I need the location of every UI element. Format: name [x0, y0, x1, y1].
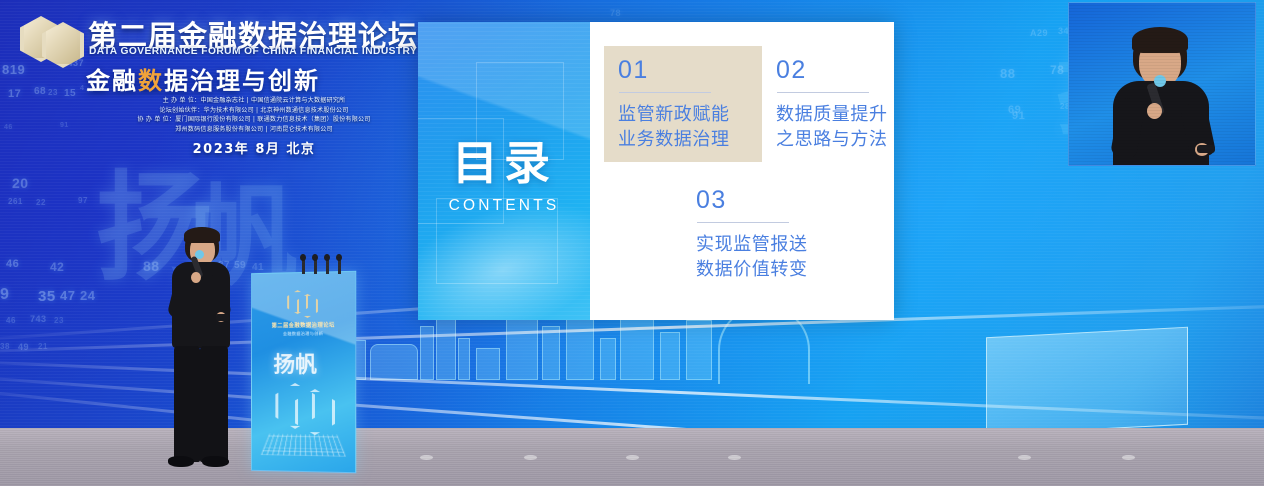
organizer-line-4: 郑州数码信息服务股份有限公司 | 河南昆仑技术有限公司 [104, 125, 404, 135]
toc-item-03-number: 03 [696, 188, 808, 213]
slide-heading-cn: 目录 [452, 127, 556, 193]
slide-toc-panel: 01 监管新政赋能 业务数据治理 02 数据质量提升 之思路与方法 03 实现监… [590, 22, 894, 320]
stage-podium: 第二届金融数据治理论坛 金融数据治理与创新 扬帆 [251, 271, 356, 474]
podium-subtitle: 金融数据治理与创新 [252, 330, 355, 337]
background-number: 42 [50, 260, 64, 274]
slide-heading-en: CONTENTS [449, 197, 560, 215]
toc-item-01[interactable]: 01 监管新政赋能 业务数据治理 [618, 58, 730, 152]
forum-hexagon-logo-icon [18, 10, 82, 68]
organizer-line-2: 论坛创始伙伴：华为技术有限公司 | 北京神州数通信息技术股份公司 [104, 106, 404, 116]
background-number: 97 [78, 196, 88, 205]
toc-item-03-line2: 数据价值转变 [696, 257, 808, 282]
toc-item-02-rule [777, 92, 869, 93]
table-mic-head-3 [324, 254, 330, 261]
organizer-line-3: 协 办 单 位：厦门国际银行股份有限公司 | 联通数力信息技术（集团）股份有限公… [104, 115, 404, 125]
stage-speaker-figure [150, 228, 260, 476]
toc-item-01-line1: 监管新政赋能 [618, 102, 730, 127]
toc-item-03-line1: 实现监管报送 [696, 232, 808, 257]
table-mic-head-4 [336, 254, 342, 261]
subtitle-highlight: 数 [138, 67, 164, 95]
wall-glass-panel [986, 327, 1188, 436]
toc-item-01-number: 01 [618, 58, 730, 83]
podium-logo-icon [287, 287, 315, 317]
presentation-slide: 目录 CONTENTS 01 监管新政赋能 业务数据治理 02 数据质量提升 之… [418, 22, 894, 320]
background-number: 78 [1050, 63, 1064, 77]
organizer-list: 主 办 单 位：中国金融杂志社 | 中国信通院云计算与大数据研究所论坛创始伙伴：… [104, 96, 404, 134]
toc-item-02-line2: 之思路与方法 [776, 127, 888, 152]
background-number: 20 [12, 175, 29, 191]
toc-item-02[interactable]: 02 数据质量提升 之思路与方法 [776, 58, 888, 152]
subtitle-pre: 金融 [86, 67, 138, 95]
event-date-location: 2023年 8月 北京 [104, 138, 404, 157]
forum-title-en: DATA GOVERNANCE FORUM OF CHINA FINANCIAL… [89, 46, 417, 57]
speaker-closeup-video-panel [1068, 2, 1256, 166]
toc-item-01-rule [619, 92, 711, 93]
background-number: 88 [1000, 66, 1015, 81]
toc-item-01-line2: 业务数据治理 [618, 127, 730, 152]
table-mic-head-2 [312, 254, 318, 261]
toc-item-02-number: 02 [776, 58, 888, 83]
podium-brush-text: 扬帆 [273, 347, 317, 379]
background-number: 46 [6, 258, 19, 270]
podium-title: 第二届金融数据治理论坛 [252, 320, 355, 329]
subtitle-post: 据治理与创新 [164, 67, 320, 95]
toc-item-03[interactable]: 03 实现监管报送 数据价值转变 [696, 188, 808, 282]
slide-heading-panel: 目录 CONTENTS [418, 22, 590, 320]
background-number: A29 [1030, 28, 1048, 38]
toc-item-02-line1: 数据质量提升 [776, 102, 888, 127]
conference-stage-screenshot: 扬帆扬 819643717682315448469120261229746429… [0, 0, 1264, 486]
background-number: 91 [1012, 110, 1025, 122]
forum-subtitle: 金融数据治理与创新 [86, 61, 320, 96]
table-mic-head-1 [300, 254, 306, 261]
organizer-line-1: 主 办 单 位：中国金融杂志社 | 中国信通院云计算与大数据研究所 [104, 96, 404, 106]
podium-large-hexagon-icon [275, 377, 331, 435]
background-number: 261 [8, 197, 23, 206]
podium-grid-graphic [261, 434, 346, 457]
toc-item-03-rule [697, 222, 789, 223]
forum-banner: 第二届金融数据治理论坛 DATA GOVERNANCE FORUM OF CHI… [0, 0, 414, 172]
background-number: 78 [610, 8, 621, 18]
background-number: 22 [36, 198, 46, 207]
